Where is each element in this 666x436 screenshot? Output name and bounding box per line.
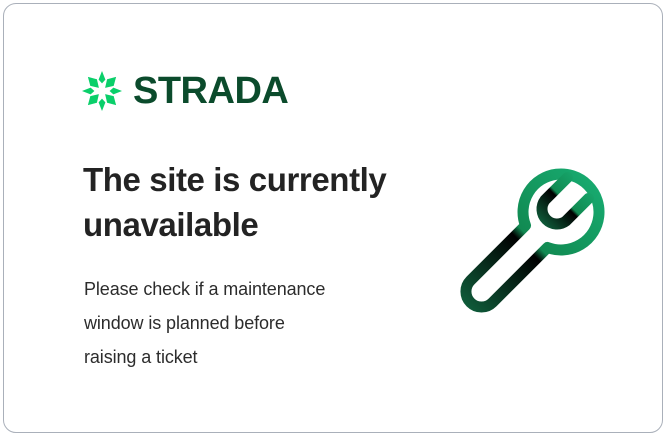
page-root: STRADA The site is currently unavailable… bbox=[0, 0, 666, 436]
brand-wordmark: STRADA bbox=[133, 72, 288, 110]
status-description: Please check if a maintenance window is … bbox=[84, 272, 404, 374]
status-card: STRADA The site is currently unavailable… bbox=[3, 3, 663, 433]
strada-asterisk-icon bbox=[81, 70, 123, 112]
brand-lockup: STRADA bbox=[81, 70, 288, 112]
description-line: Please check if a maintenance bbox=[84, 272, 404, 306]
description-line: raising a ticket bbox=[84, 340, 404, 374]
wrench-icon bbox=[459, 152, 614, 317]
description-line: window is planned before bbox=[84, 306, 404, 340]
page-title: The site is currently unavailable bbox=[83, 157, 443, 247]
